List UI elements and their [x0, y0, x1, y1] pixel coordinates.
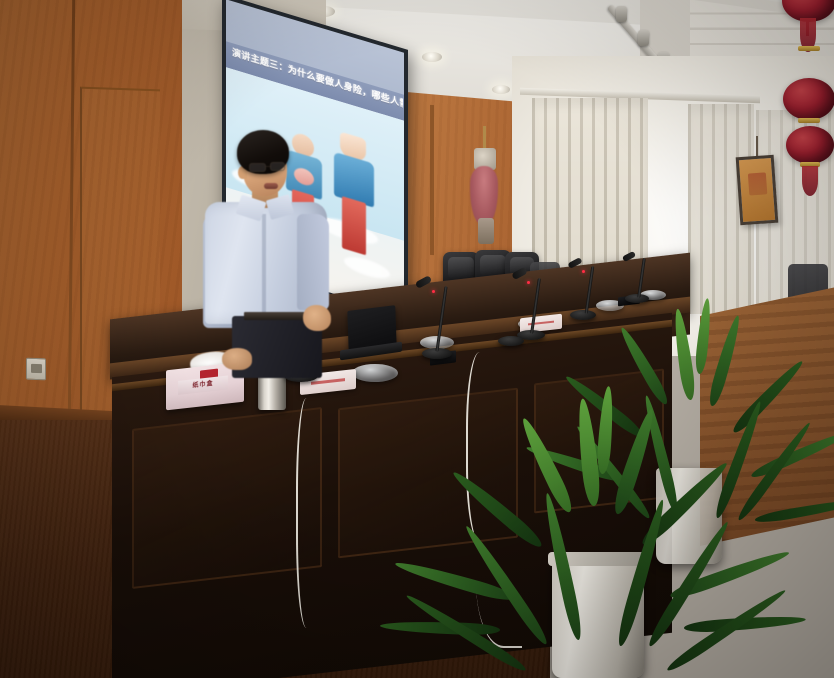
glass-ashtray[interactable] [352, 364, 398, 382]
red-lantern-icon [783, 78, 834, 120]
wall-vertical-trim [430, 105, 434, 255]
potted-plant-front [486, 370, 766, 678]
white-power-cable [296, 398, 322, 628]
tissue-box-label: 纸巾盒 [178, 375, 228, 395]
slide-illustration-figure [334, 130, 378, 263]
microphone-led-indicator [582, 270, 585, 273]
plant-leaf [610, 407, 658, 516]
chinese-knot-tassel-icon [470, 166, 498, 224]
downlight-icon [492, 85, 510, 94]
art-hanging-rod [756, 136, 758, 158]
desk-box-stripe [311, 378, 345, 385]
presenter-shirt-placket [262, 214, 266, 320]
microphone-led-indicator [527, 281, 530, 284]
conference-room-photo: 演讲主题三：为什么要做人身险，哪些人需要保障？ [0, 0, 834, 678]
presenter-right-arm [297, 214, 329, 310]
knot-bottom-weight [478, 218, 494, 244]
microphone-led-indicator [432, 290, 435, 293]
glasses-icon [270, 162, 285, 171]
lantern-band [798, 46, 820, 51]
track-light-head-icon [616, 6, 627, 22]
microphone-base [498, 336, 524, 346]
glasses-bridge [266, 166, 271, 167]
plant-leaf [754, 496, 834, 525]
red-lantern-icon [786, 126, 834, 164]
framed-calligraphy-art [736, 155, 779, 225]
plant-leaf [694, 298, 713, 375]
presenter-belt [244, 312, 310, 320]
plant-leaf [596, 386, 615, 475]
podium-panel [132, 407, 322, 589]
presenter-mouth [264, 183, 278, 189]
wall-power-outlet [26, 358, 46, 381]
glasses-icon [249, 163, 266, 172]
track-light-head-icon [638, 30, 649, 46]
lantern-band [798, 118, 820, 123]
presenter-left-hand [222, 348, 252, 370]
presenter-right-hand [303, 305, 331, 331]
microphone-base [570, 310, 596, 320]
lantern-fringe [802, 166, 818, 196]
downlight-icon [422, 52, 442, 62]
